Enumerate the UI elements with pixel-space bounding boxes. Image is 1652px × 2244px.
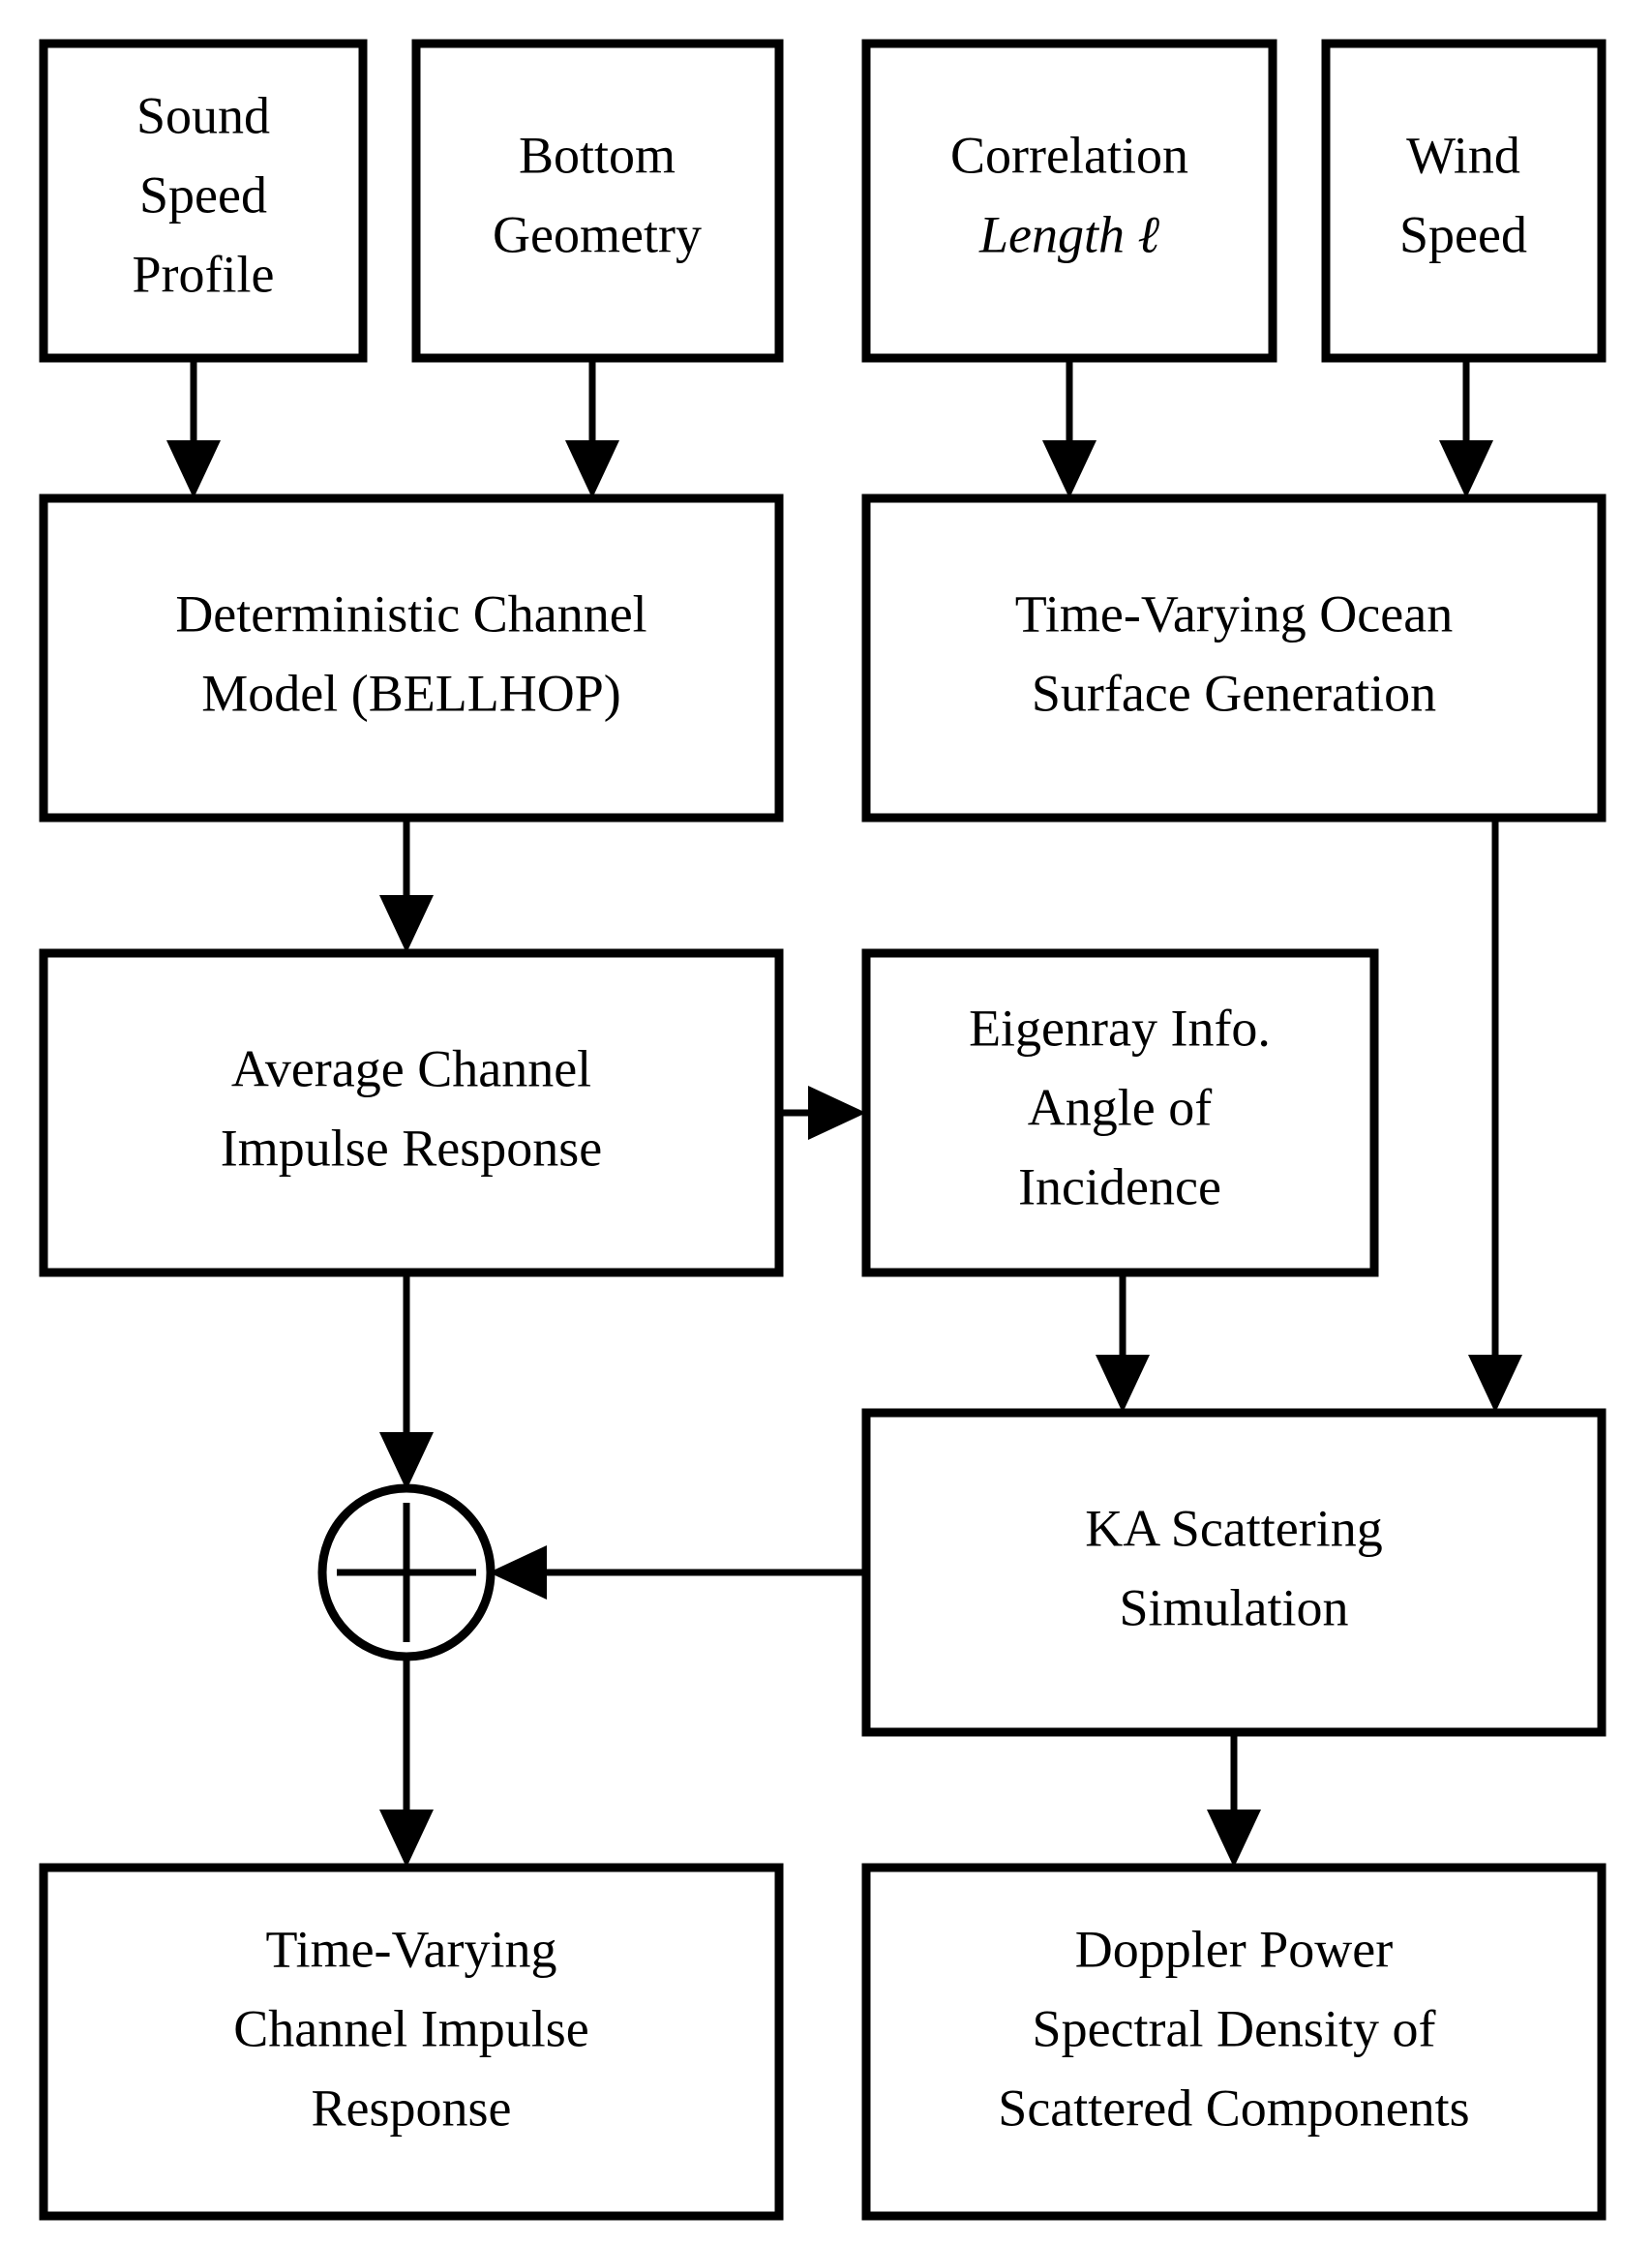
eigenray-info-label-line1: Eigenray Info. xyxy=(969,999,1271,1057)
ka-scattering-simulation-label-line1: KA Scattering xyxy=(1085,1499,1382,1557)
average-channel-impulse-response-box[interactable]: Average Channel Impulse Response xyxy=(44,953,779,1272)
edge-sound-speed-profile-to-deterministic-channel-model xyxy=(166,358,221,498)
correlation-length-label-line2: Length ℓ xyxy=(978,205,1160,263)
edge-average-channel-impulse-response-to-eigenray-info xyxy=(779,1086,866,1140)
bottom-geometry-label-line2: Geometry xyxy=(493,205,702,263)
edge-ka-scattering-simulation-to-doppler-psd xyxy=(1207,1732,1261,1868)
sound-speed-profile-label-line3: Profile xyxy=(133,245,275,303)
deterministic-channel-model-label-line2: Model (BELLHOP) xyxy=(201,664,620,722)
wind-speed-label-line1: Wind xyxy=(1406,126,1520,184)
bottom-geometry-label-line1: Bottom xyxy=(519,126,676,184)
deterministic-channel-model-box[interactable]: Deterministic Channel Model (BELLHOP) xyxy=(44,498,779,818)
eigenray-info-label-line3: Incidence xyxy=(1018,1157,1221,1215)
average-channel-impulse-response-label-line1: Average Channel xyxy=(231,1039,591,1097)
edge-average-channel-impulse-response-to-summing-junction xyxy=(379,1272,434,1490)
sound-speed-profile-box[interactable]: Sound Speed Profile xyxy=(44,44,363,358)
time-varying-channel-impulse-response-box[interactable]: Time-Varying Channel Impulse Response xyxy=(44,1868,779,2216)
time-varying-cir-label-line3: Response xyxy=(312,2079,512,2137)
bottom-geometry-box[interactable]: Bottom Geometry xyxy=(416,44,779,358)
flowchart-diagram: Sound Speed Profile Bottom Geometry Corr… xyxy=(0,0,1652,2244)
summing-junction[interactable] xyxy=(322,1488,491,1657)
ka-scattering-simulation-box[interactable]: KA Scattering Simulation xyxy=(866,1413,1602,1732)
eigenray-info-label-line2: Angle of xyxy=(1028,1078,1212,1136)
edge-wind-speed-to-ocean-surface-generation xyxy=(1439,358,1493,498)
time-varying-cir-label-line1: Time-Varying xyxy=(265,1920,556,1978)
edge-summing-junction-to-time-varying-cir xyxy=(379,1657,434,1868)
ka-scattering-simulation-label-line2: Simulation xyxy=(1119,1578,1348,1636)
average-channel-impulse-response-label-line2: Impulse Response xyxy=(221,1119,602,1177)
edge-ocean-surface-generation-to-ka-scattering-simulation xyxy=(1468,818,1522,1413)
eigenray-info-angle-of-incidence-box[interactable]: Eigenray Info. Angle of Incidence xyxy=(866,953,1374,1272)
ocean-surface-generation-label-line2: Surface Generation xyxy=(1032,664,1436,722)
ocean-surface-generation-label-line1: Time-Varying Ocean xyxy=(1015,584,1453,643)
edge-eigenray-info-to-ka-scattering-simulation xyxy=(1096,1272,1150,1413)
time-varying-cir-label-line2: Channel Impulse xyxy=(233,1999,588,2057)
doppler-power-spectral-density-box[interactable]: Doppler Power Spectral Density of Scatte… xyxy=(866,1868,1602,2216)
edge-ka-scattering-simulation-to-summing-junction xyxy=(489,1545,866,1600)
edge-deterministic-channel-model-to-average-channel-impulse-response xyxy=(379,818,434,953)
correlation-length-label-line1: Correlation xyxy=(950,126,1188,184)
edge-correlation-length-to-ocean-surface-generation xyxy=(1042,358,1096,498)
wind-speed-box[interactable]: Wind Speed xyxy=(1326,44,1602,358)
time-varying-ocean-surface-generation-box[interactable]: Time-Varying Ocean Surface Generation xyxy=(866,498,1602,818)
sound-speed-profile-label-line2: Speed xyxy=(139,165,267,224)
doppler-psd-label-line1: Doppler Power xyxy=(1075,1920,1393,1978)
doppler-psd-label-line3: Scattered Components xyxy=(998,2079,1469,2137)
deterministic-channel-model-label-line1: Deterministic Channel xyxy=(175,584,646,643)
doppler-psd-label-line2: Spectral Density of xyxy=(1033,1999,1436,2057)
edge-bottom-geometry-to-deterministic-channel-model xyxy=(565,358,619,498)
wind-speed-label-line2: Speed xyxy=(1399,205,1527,263)
flowchart-canvas: Sound Speed Profile Bottom Geometry Corr… xyxy=(0,0,1652,2244)
correlation-length-box[interactable]: Correlation Length ℓ xyxy=(866,44,1273,358)
sound-speed-profile-label-line1: Sound xyxy=(136,86,270,144)
